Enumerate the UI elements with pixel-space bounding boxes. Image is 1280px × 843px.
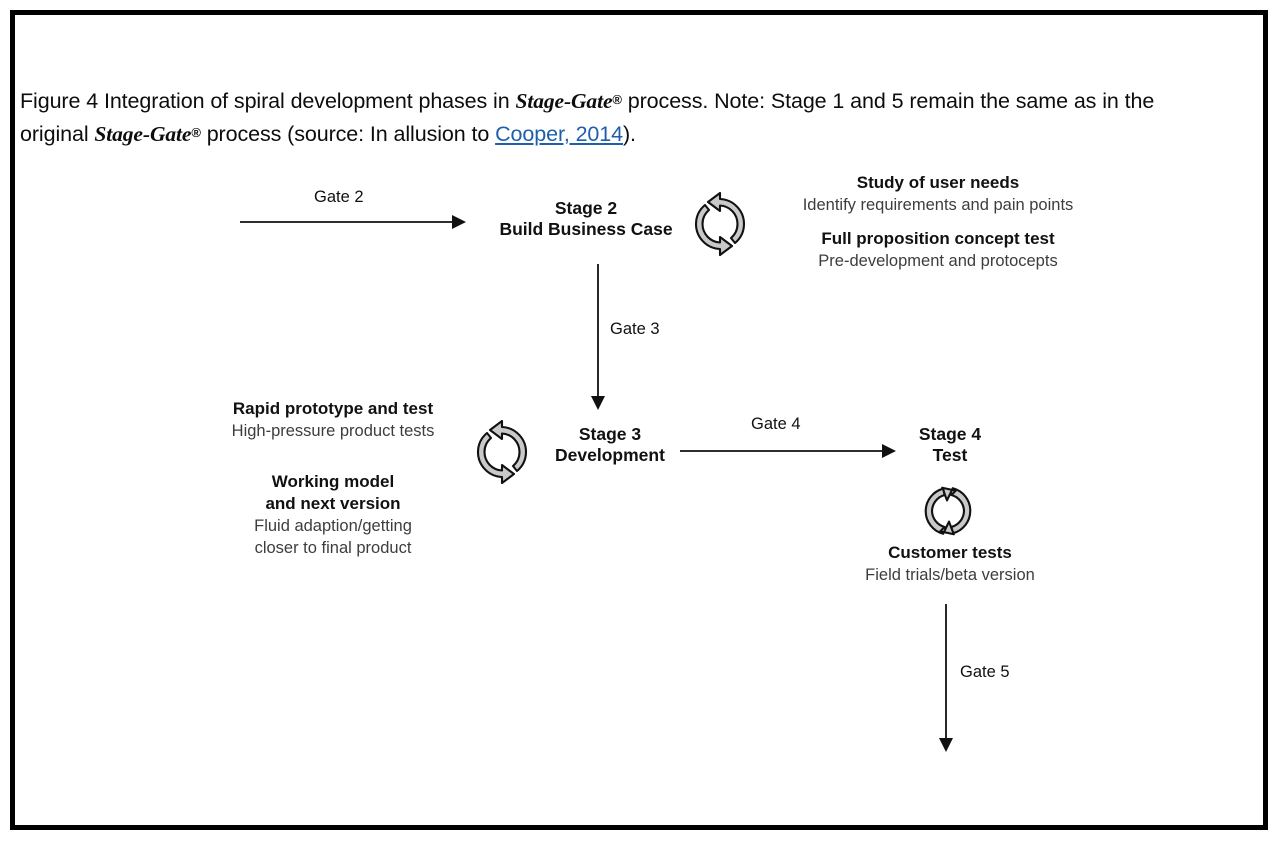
annotation-body: High-pressure product tests (183, 420, 483, 442)
annotation-study-of-user-needs: Study of user needs Identify requirement… (738, 172, 1138, 216)
annotation-body: Pre-development and protocepts (738, 250, 1138, 272)
cycle-arrows-icon (917, 480, 979, 542)
gate-2-arrow (238, 210, 470, 234)
annotation-heading: Study of user needs (738, 172, 1138, 194)
annotation-body: Field trials/beta version (800, 564, 1100, 586)
stage-2-subtitle: Build Business Case (466, 219, 706, 240)
stage-2-node: Stage 2 Build Business Case (466, 198, 706, 240)
annotation-heading: Working model (183, 471, 483, 493)
gate-4-label: Gate 4 (751, 415, 801, 434)
process-flow-diagram: Gate 2 Stage 2 Build Business Case Study… (0, 0, 1280, 843)
gate-2-label: Gate 2 (314, 188, 364, 207)
stage-4-title: Stage 4 (860, 424, 1040, 445)
stage-3-node: Stage 3 Development (520, 424, 700, 466)
stage-3-title: Stage 3 (520, 424, 700, 445)
gate-5-label: Gate 5 (960, 663, 1010, 682)
stage-3-subtitle: Development (520, 445, 700, 466)
annotation-heading-line-2: and next version (183, 493, 483, 515)
annotation-heading: Full proposition concept test (738, 228, 1138, 250)
annotation-customer-tests: Customer tests Field trials/beta version (800, 542, 1100, 586)
annotation-heading: Customer tests (800, 542, 1100, 564)
stage-4-node: Stage 4 Test (860, 424, 1040, 466)
annotation-body: Fluid adaption/getting (183, 515, 483, 537)
annotation-rapid-prototype-and-test: Rapid prototype and test High-pressure p… (183, 398, 483, 442)
annotation-body: Identify requirements and pain points (738, 194, 1138, 216)
annotation-heading: Rapid prototype and test (183, 398, 483, 420)
stage-4-subtitle: Test (860, 445, 1040, 466)
gate-5-arrow (934, 602, 958, 757)
annotation-body-line-2: closer to final product (183, 537, 483, 559)
annotation-full-proposition-concept-test: Full proposition concept test Pre-develo… (738, 228, 1138, 272)
figure-page: Figure 4 Integration of spiral developme… (0, 0, 1280, 843)
gate-3-arrow (586, 262, 610, 414)
gate-3-label: Gate 3 (610, 320, 660, 339)
annotation-working-model-and-next-version: Working model and next version Fluid ada… (183, 471, 483, 559)
stage-2-title: Stage 2 (466, 198, 706, 219)
